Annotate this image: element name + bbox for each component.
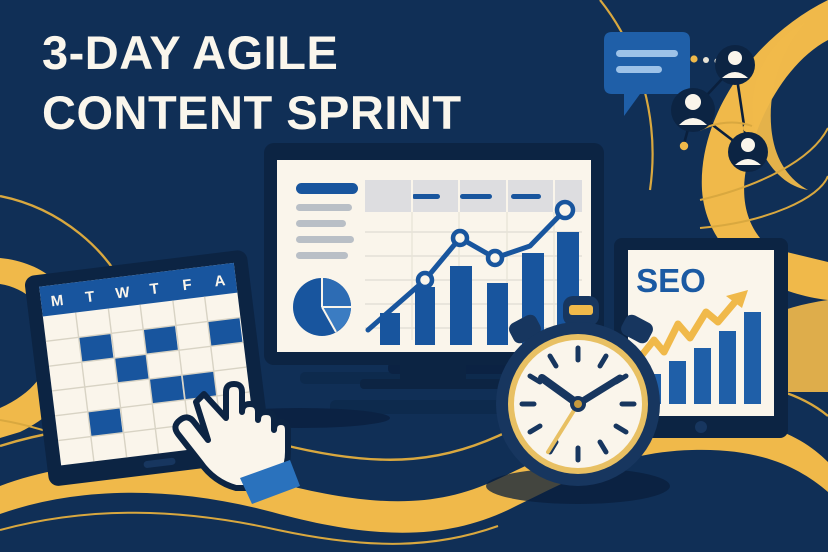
stopwatch-crown-button[interactable] [569,305,593,315]
title-line-1: 3-DAY AGILE [42,26,512,80]
poster-canvas: 3-DAY AGILE CONTENT SPRINT [0,0,828,552]
page-title: 3-DAY AGILE CONTENT SPRINT [42,26,512,140]
stopwatch-pivot-center [574,400,582,408]
title-line-2: CONTENT SPRINT [42,86,512,140]
